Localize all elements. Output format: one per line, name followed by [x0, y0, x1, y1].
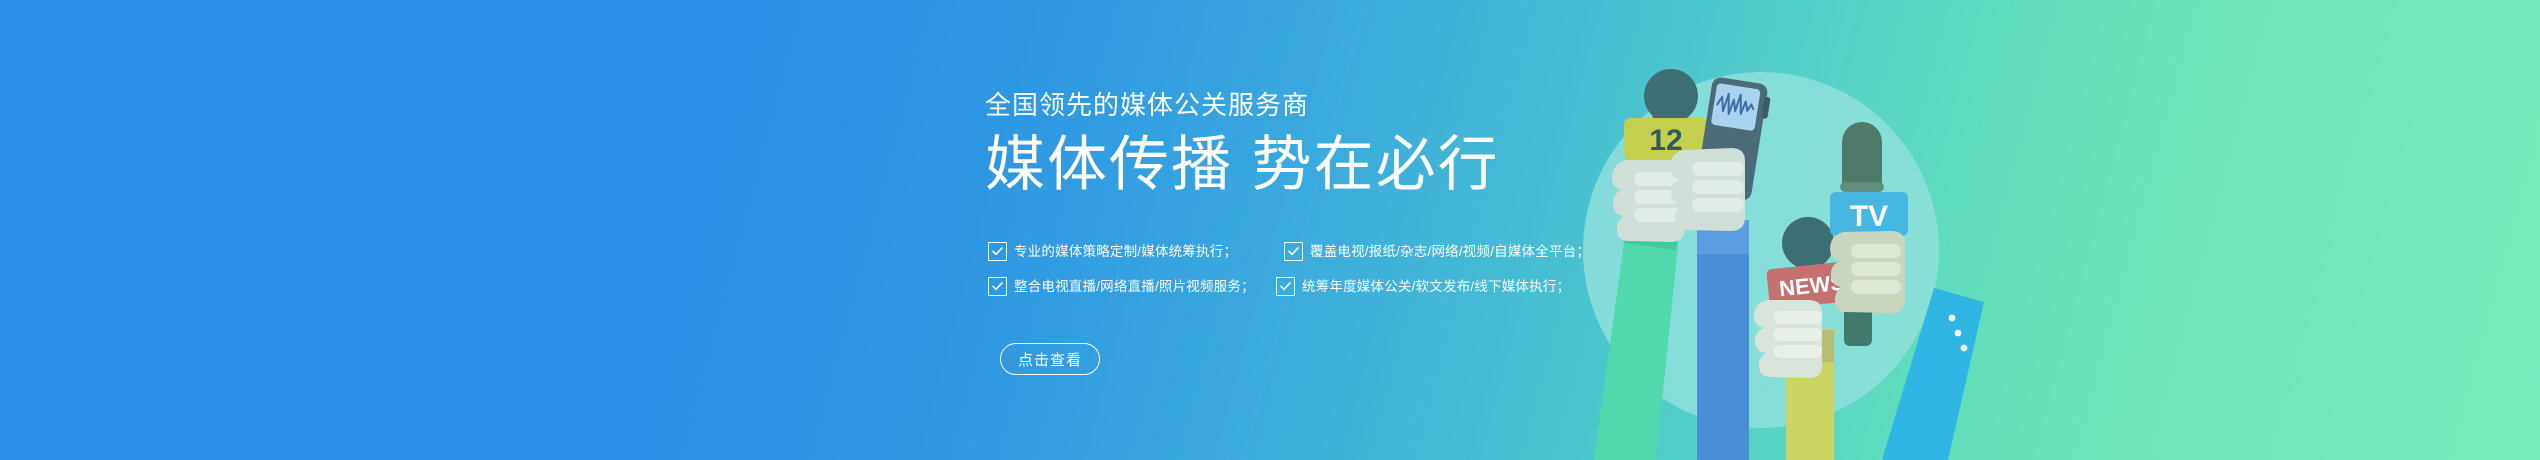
banner-headline: 媒体传播 势在必行	[985, 128, 1585, 202]
banner-eyebrow: 全国领先的媒体公关服务商	[985, 88, 1585, 122]
check-square-icon	[988, 242, 1007, 261]
promo-banner: 12	[0, 0, 2540, 460]
feature-label: 统筹年度媒体公关/软文发布/线下媒体执行；	[1302, 278, 1570, 295]
check-square-icon	[988, 277, 1007, 296]
feature-item-4: 统筹年度媒体公关/软文发布/线下媒体执行；	[1276, 277, 1576, 296]
banner-copy: 全国领先的媒体公关服务商 媒体传播 势在必行	[985, 88, 1585, 202]
feature-label: 整合电视直播/网络直播/照片视频服务；	[1014, 278, 1255, 295]
check-square-icon	[1276, 277, 1295, 296]
feature-list: 专业的媒体策略定制/媒体统筹执行； 覆盖电视/报纸/杂志/网络/视频/自媒体全平…	[988, 234, 1588, 304]
reporter-arm-green: 12	[1594, 69, 1708, 460]
feature-label: 覆盖电视/报纸/杂志/网络/视频/自媒体全平台；	[1310, 243, 1590, 260]
mic-flag-12-label: 12	[1649, 124, 1682, 157]
feature-item-1: 专业的媒体策略定制/媒体统筹执行；	[988, 242, 1276, 261]
feature-label: 专业的媒体策略定制/媒体统筹执行；	[1014, 243, 1237, 260]
mic-flag-tv-label: TV	[1850, 200, 1888, 233]
reporter-arm-cyan: TV	[1830, 122, 1984, 460]
view-details-button[interactable]: 点击查看	[1000, 343, 1100, 375]
feature-item-2: 覆盖电视/报纸/杂志/网络/视频/自媒体全平台；	[1276, 242, 1576, 261]
check-square-icon	[1284, 242, 1303, 261]
feature-item-3: 整合电视直播/网络直播/照片视频服务；	[988, 277, 1276, 296]
reporters-microphones-illustration: 12	[1560, 0, 2060, 460]
